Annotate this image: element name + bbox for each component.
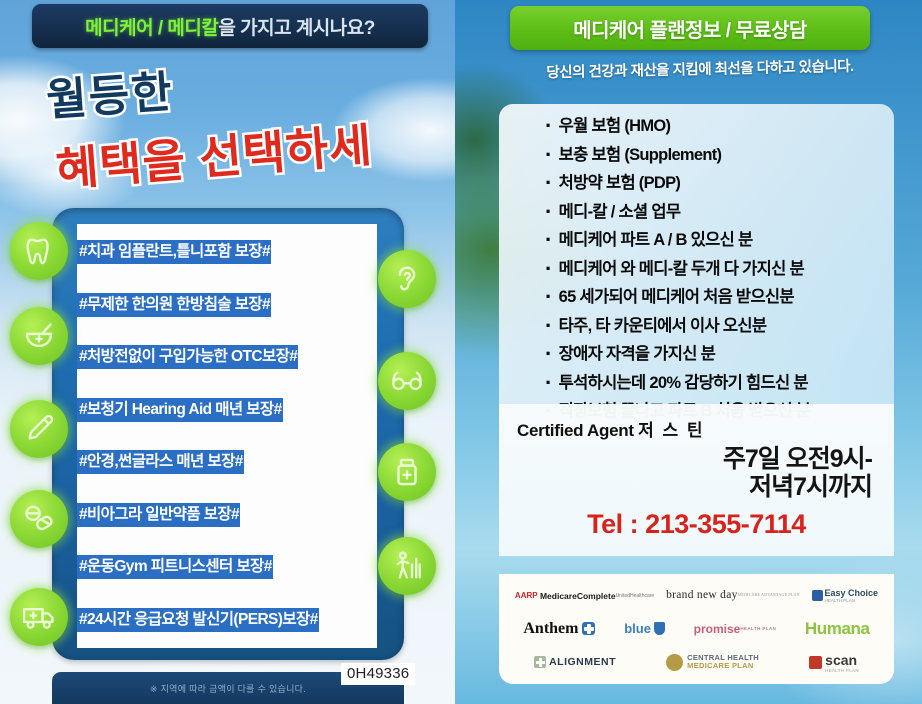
benefit-text: #처방전없이 구입가능한 OTC보장# [77,345,298,369]
alignment-text: ALIGNMENT [549,656,616,668]
phone-number[interactable]: Tel : 213-355-7114 [517,509,876,540]
promise-sub: HEALTH PLAN [740,626,776,631]
thermometer-icon [10,400,68,458]
anthem-text: Anthem [523,620,578,638]
mortar-pestle-icon [10,307,68,365]
aarp-brand-text: AARP [515,591,538,600]
scan-heart-icon [809,656,822,669]
logo-row-3: ALIGNMENT CENTRAL HEALTH MEDICARE PLAN s… [509,646,884,679]
list-item: 65 세가되어 메디케어 처음 받으신분 [499,283,894,312]
medicine-bottle-icon [378,443,436,501]
left-header-text: 메디케어 / 메디칼을 가지고 계시나요? [85,13,375,40]
benefit-text: #치과 임플란트,틀니포함 보장# [77,240,271,264]
agent-label: Certified Agent [517,421,634,440]
list-item: #24시간 응급요청 발신기(PERS)보장# [77,594,387,647]
hours-line-1: 주7일 오전9시- [517,445,872,473]
benefit-text: #비아그라 일반약품 보장# [77,503,240,527]
central-health-seal-icon [666,654,683,671]
left-header-banner: 메디케어 / 메디칼을 가지고 계시나요? [32,4,428,48]
benefit-text: #운동Gym 피트니스센터 보장# [77,555,273,579]
aarp-product-text: MedicareComplete [540,591,616,601]
list-item: #치과 임플란트,틀니포함 보장# [77,226,387,279]
list-item: 타주, 타 카운티에서 이사 오신분 [499,312,894,341]
agent-name: 저 스 틴 [638,421,704,440]
list-item: #비아그라 일반약품 보장# [77,489,387,542]
right-header-text: 메디케어 플랜정보 / 무료상담 [573,14,806,43]
blue-shield-logo: blue [624,621,665,636]
easy-choice-text: Easy Choice [825,588,879,598]
tooth-icon [10,222,68,280]
scan-text: scan [825,652,857,668]
benefit-text: #무제한 한의원 한방침술 보장# [77,293,271,317]
list-item: 처방약 보험 (PDP) [499,169,894,198]
pills-icon [10,490,68,548]
list-item: 보충 보험 (Supplement) [499,141,894,170]
scan-sub: HEALTH PLAN [825,668,859,673]
list-item: 메디케어 와 메디-칼 두개 다 가지신 분 [499,255,894,284]
business-hours: 주7일 오전9시- 저녁7시까지 [517,445,876,501]
list-item: 메디케어 파트 A / B 있으신 분 [499,226,894,255]
left-header-rest: 을 가지고 계시나요? [218,18,375,39]
anthem-logo: Anthem [523,620,595,638]
easy-choice-sub: HEALTH PLAN [825,598,879,603]
left-panel: 메디케어 / 메디칼을 가지고 계시나요? 월등한 혜택을 선택하세요!!! #… [0,0,455,704]
medicare-advertisement-poster: 메디케어 / 메디칼을 가지고 계시나요? 월등한 혜택을 선택하세요!!! #… [0,0,922,704]
central-health-sub: MEDICARE PLAN [687,662,759,671]
list-item: #무제한 한의원 한방침술 보장# [77,279,387,332]
exercise-person-icon [378,537,436,595]
logo-row-1: AARP MedicareComplete UnitedHealthcare b… [509,579,884,612]
list-item: #운동Gym 피트니스센터 보장# [77,541,387,594]
brand-new-day-text: brand new day [666,589,738,602]
scan-wrap: scan HEALTH PLAN [825,652,859,673]
brand-new-day-logo: brand new day MEDICARE ADVANTAGE PLAN [666,589,800,602]
benefit-text: #안경,썬글라스 매년 보장# [77,450,244,474]
carrier-logos-panel: AARP MedicareComplete UnitedHealthcare b… [499,574,894,684]
humana-text: Humana [805,619,870,639]
right-header-banner: 메디케어 플랜정보 / 무료상담 [510,6,870,50]
aarp-medicarecomplete-logo: AARP MedicareComplete UnitedHealthcare [515,591,654,601]
promise-health-plan-logo: promise HEALTH PLAN [694,622,777,636]
aarp-sub-text: UnitedHealthcare [616,593,655,599]
easy-choice-logo: Easy Choice HEALTH PLAN [812,588,879,603]
hours-line-2: 저녁7시까지 [517,473,872,501]
brand-new-day-sub: MEDICARE ADVANTAGE PLAN [738,593,800,597]
list-item: #처방전없이 구입가능한 OTC보장# [77,331,387,384]
ear-icon [378,250,436,308]
central-health-wrap: CENTRAL HEALTH MEDICARE PLAN [687,654,759,671]
benefits-list: #치과 임플란트,틀니포함 보장# #무제한 한의원 한방침술 보장# #처방전… [77,226,387,646]
list-item: 장애자 자격을 가지신 분 [499,340,894,369]
contact-card: Certified Agent 저 스 틴 주7일 오전9시- 저녁7시까지 T… [499,404,894,556]
ambulance-icon [10,588,68,646]
benefit-text: #24시간 응급요청 발신기(PERS)보장# [77,608,319,632]
easy-choice-wrap: Easy Choice HEALTH PLAN [825,588,879,603]
list-item: 투석하시는데 20% 감당하기 힘드신 분 [499,369,894,398]
blue-text: blue [624,621,651,636]
left-disclaimer-text: ※ 지역에 따라 금액이 다를 수 있습니다. [150,682,306,695]
blue-shield-icon [654,622,665,635]
right-panel: 메디케어 플랜정보 / 무료상담 당신의 건강과 재산을 지킴에 최선을 다하고… [455,0,922,704]
humana-logo: Humana [805,619,870,639]
list-item: #보청기 Hearing Aid 매년 보장# [77,384,387,437]
list-item: #안경,썬글라스 매년 보장# [77,436,387,489]
services-card: 우월 보험 (HMO) 보충 보험 (Supplement) 처방약 보험 (P… [499,104,894,404]
left-header-highlight: 메디케어 / 메디칼 [85,18,218,39]
list-item: 우월 보험 (HMO) [499,112,894,141]
promise-text: promise [694,622,741,636]
anthem-cross-icon [582,622,595,635]
headline-line-1: 월등한 [44,56,176,129]
easy-choice-mark-icon [812,590,823,601]
alignment-cross-icon [534,656,546,668]
list-item: 메디-칼 / 소셜 업무 [499,198,894,227]
benefit-text: #보청기 Hearing Aid 매년 보장# [77,398,283,422]
logo-row-2: Anthem blue promise HEALTH PLAN Humana [509,612,884,645]
watermark-label: 0H49336 [341,663,415,685]
agent-line: Certified Agent 저 스 틴 [517,416,876,441]
scan-health-plan-logo: scan HEALTH PLAN [809,652,859,673]
glasses-icon [378,352,436,410]
central-health-medicare-plan-logo: CENTRAL HEALTH MEDICARE PLAN [666,654,759,671]
alignment-logo: ALIGNMENT [534,656,616,668]
